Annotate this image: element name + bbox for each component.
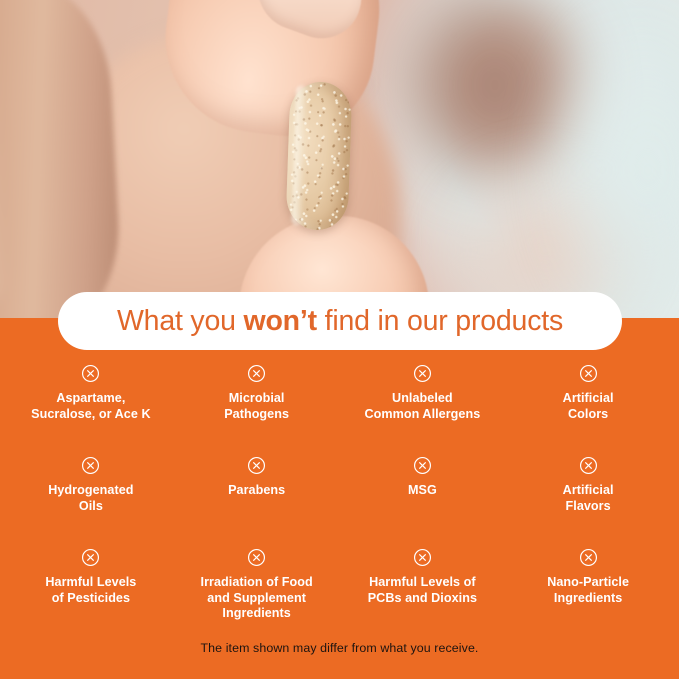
headline-text: What you won’t find in our products xyxy=(117,305,563,338)
exclusion-item: HydrogenatedOils xyxy=(8,456,174,514)
exclusion-item: ArtificialColors xyxy=(505,364,671,422)
exclusion-label: ArtificialColors xyxy=(563,391,614,422)
headline-suffix: find in our products xyxy=(317,305,563,337)
exclusion-label: Irradiation of Foodand SupplementIngredi… xyxy=(201,575,313,622)
circle-x-icon xyxy=(413,548,432,567)
exclusion-label: HydrogenatedOils xyxy=(48,483,133,514)
exclusion-item: ArtificialFlavors xyxy=(505,456,671,514)
circle-x-icon xyxy=(579,364,598,383)
exclusion-label: MicrobialPathogens xyxy=(224,391,289,422)
circle-x-icon xyxy=(247,364,266,383)
circle-x-icon xyxy=(81,548,100,567)
photo-left-finger-highlight xyxy=(0,2,5,304)
exclusion-item: Nano-ParticleIngredients xyxy=(505,548,671,606)
product-infographic-page: What you won’t find in our products Aspa… xyxy=(0,0,679,679)
exclusion-label: MSG xyxy=(408,483,437,499)
exclusion-label: Aspartame,Sucralose, or Ace K xyxy=(31,391,150,422)
exclusion-item: Irradiation of Foodand SupplementIngredi… xyxy=(174,548,340,622)
product-hero-photo xyxy=(0,0,679,318)
exclusion-item: Aspartame,Sucralose, or Ace K xyxy=(8,364,174,422)
exclusion-item: UnlabeledCommon Allergens xyxy=(340,364,506,422)
headline-pill: What you won’t find in our products xyxy=(58,292,622,350)
circle-x-icon xyxy=(579,456,598,475)
exclusion-item: MicrobialPathogens xyxy=(174,364,340,422)
exclusion-item: Parabens xyxy=(174,456,340,499)
circle-x-icon xyxy=(247,456,266,475)
headline-emphasis: won’t xyxy=(244,305,317,337)
exclusions-grid: Aspartame,Sucralose, or Ace K MicrobialP… xyxy=(0,364,679,622)
exclusion-label: Harmful Levelsof Pesticides xyxy=(45,575,136,606)
exclusion-item: MSG xyxy=(340,456,506,499)
headline-prefix: What you xyxy=(117,305,244,337)
circle-x-icon xyxy=(413,364,432,383)
circle-x-icon xyxy=(413,456,432,475)
exclusion-label: Harmful Levels ofPCBs and Dioxins xyxy=(368,575,477,606)
exclusion-item: Harmful Levels ofPCBs and Dioxins xyxy=(340,548,506,606)
supplement-tablet xyxy=(285,81,352,231)
exclusion-label: Nano-ParticleIngredients xyxy=(547,575,629,606)
footer: The item shown may differ from what you … xyxy=(0,639,679,657)
exclusion-item: Harmful Levelsof Pesticides xyxy=(8,548,174,606)
circle-x-icon xyxy=(579,548,598,567)
circle-x-icon xyxy=(247,548,266,567)
exclusion-label: ArtificialFlavors xyxy=(563,483,614,514)
circle-x-icon xyxy=(81,456,100,475)
exclusion-label: UnlabeledCommon Allergens xyxy=(364,391,480,422)
disclaimer-text: The item shown may differ from what you … xyxy=(201,641,479,655)
circle-x-icon xyxy=(81,364,100,383)
exclusion-label: Parabens xyxy=(228,483,285,499)
